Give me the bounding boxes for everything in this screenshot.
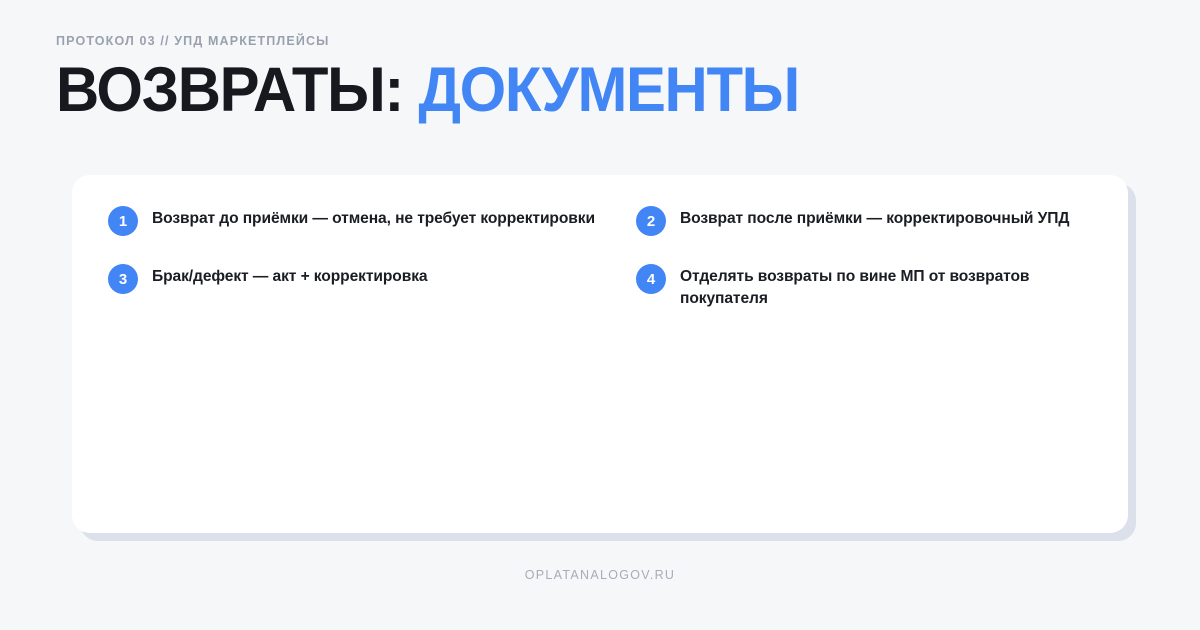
slide-root: ПРОТОКОЛ 03 // УПД МАРКЕТПЛЕЙСЫ ВОЗВРАТЫ… [0,0,1200,630]
list-item: 2 Возврат после приёмки — корректировочн… [636,205,1110,253]
footer-source: OPLATANALOGOV.RU [0,568,1200,582]
list-item-label: Брак/дефект — акт + корректировка [152,263,428,288]
content-card-wrapper: 1 Возврат до приёмки — отмена, не требуе… [72,175,1128,533]
list-item: 3 Брак/дефект — акт + корректировка [108,263,636,311]
page-title-main: ВОЗВРАТЫ: [56,55,403,125]
item-number-badge: 1 [108,206,138,236]
page-title-accent: ДОКУМЕНТЫ [418,55,799,125]
page-title: ВОЗВРАТЫ: ДОКУМЕНТЫ [56,58,1092,122]
list-item-label: Возврат после приёмки — корректировочный… [680,205,1069,230]
list-item-label: Отделять возвраты по вине МП от возврато… [680,263,1094,310]
list-item-label: Возврат до приёмки — отмена, не требует … [152,205,595,230]
content-card: 1 Возврат до приёмки — отмена, не требуе… [72,175,1128,533]
eyebrow-label: ПРОТОКОЛ 03 // УПД МАРКЕТПЛЕЙСЫ [56,34,1146,49]
list-item: 1 Возврат до приёмки — отмена, не требуе… [108,205,636,253]
slide-header: ПРОТОКОЛ 03 // УПД МАРКЕТПЛЕЙСЫ ВОЗВРАТЫ… [56,34,1146,122]
list-item: 4 Отделять возвраты по вине МП от возвра… [636,263,1110,311]
checklist-grid: 1 Возврат до приёмки — отмена, не требуе… [108,205,1110,311]
item-number-badge: 2 [636,206,666,236]
item-number-badge: 3 [108,264,138,294]
item-number-badge: 4 [636,264,666,294]
